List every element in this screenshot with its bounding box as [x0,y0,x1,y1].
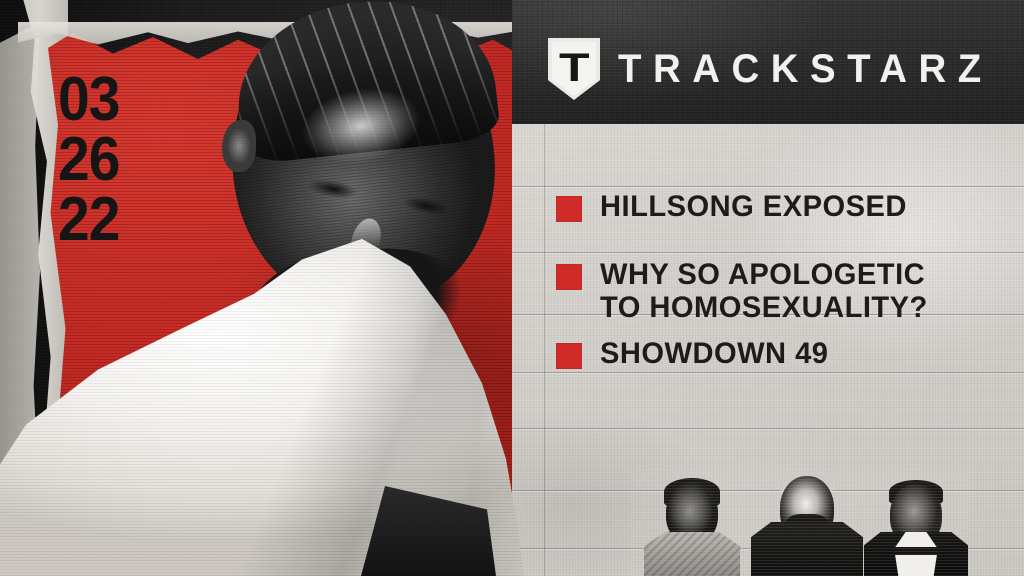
host-figure-center [752,470,862,576]
host-figure-right [866,470,966,576]
brand-lockup[interactable]: T TRACKSTARZ [548,38,1008,100]
wall-mortar-line [512,372,1024,373]
host-body [751,522,863,576]
wall-mortar-line [512,186,1024,187]
bullet-square-icon [556,196,582,222]
host-figure-left [644,470,740,576]
brand-header-band: T TRACKSTARZ [512,0,1024,124]
hosts-photo [630,470,970,576]
bullet-square-icon [556,264,582,290]
date-day: 26 [58,130,120,190]
portrait-white-shirt [0,232,590,576]
shield-letter: T [559,48,590,88]
date-year: 22 [58,190,120,250]
topic-label: SHOWDOWN 49 [600,337,828,371]
wall-mortar-line [512,428,1024,429]
topic-label: HILLSONG EXPOSED [600,190,907,224]
topic-item[interactable]: HILLSONG EXPOSED [556,190,976,224]
topic-label: WHY SO APOLOGETIC TO HOMOSEXUALITY? [600,258,965,325]
episode-graphic: 03 26 22 T TRACKST [0,0,1024,576]
date-month: 03 [58,70,120,130]
topic-list: HILLSONG EXPOSED WHY SO APOLOGETIC TO HO… [556,190,976,370]
host-body [644,532,740,576]
bullet-square-icon [556,343,582,369]
topic-item[interactable]: WHY SO APOLOGETIC TO HOMOSEXUALITY? [556,258,976,325]
topic-item[interactable]: SHOWDOWN 49 [556,337,976,371]
episode-date: 03 26 22 [58,70,120,250]
shield-badge-icon: T [548,38,600,100]
portrait-ear [222,120,256,172]
brand-wordmark: TRACKSTARZ [618,47,993,92]
